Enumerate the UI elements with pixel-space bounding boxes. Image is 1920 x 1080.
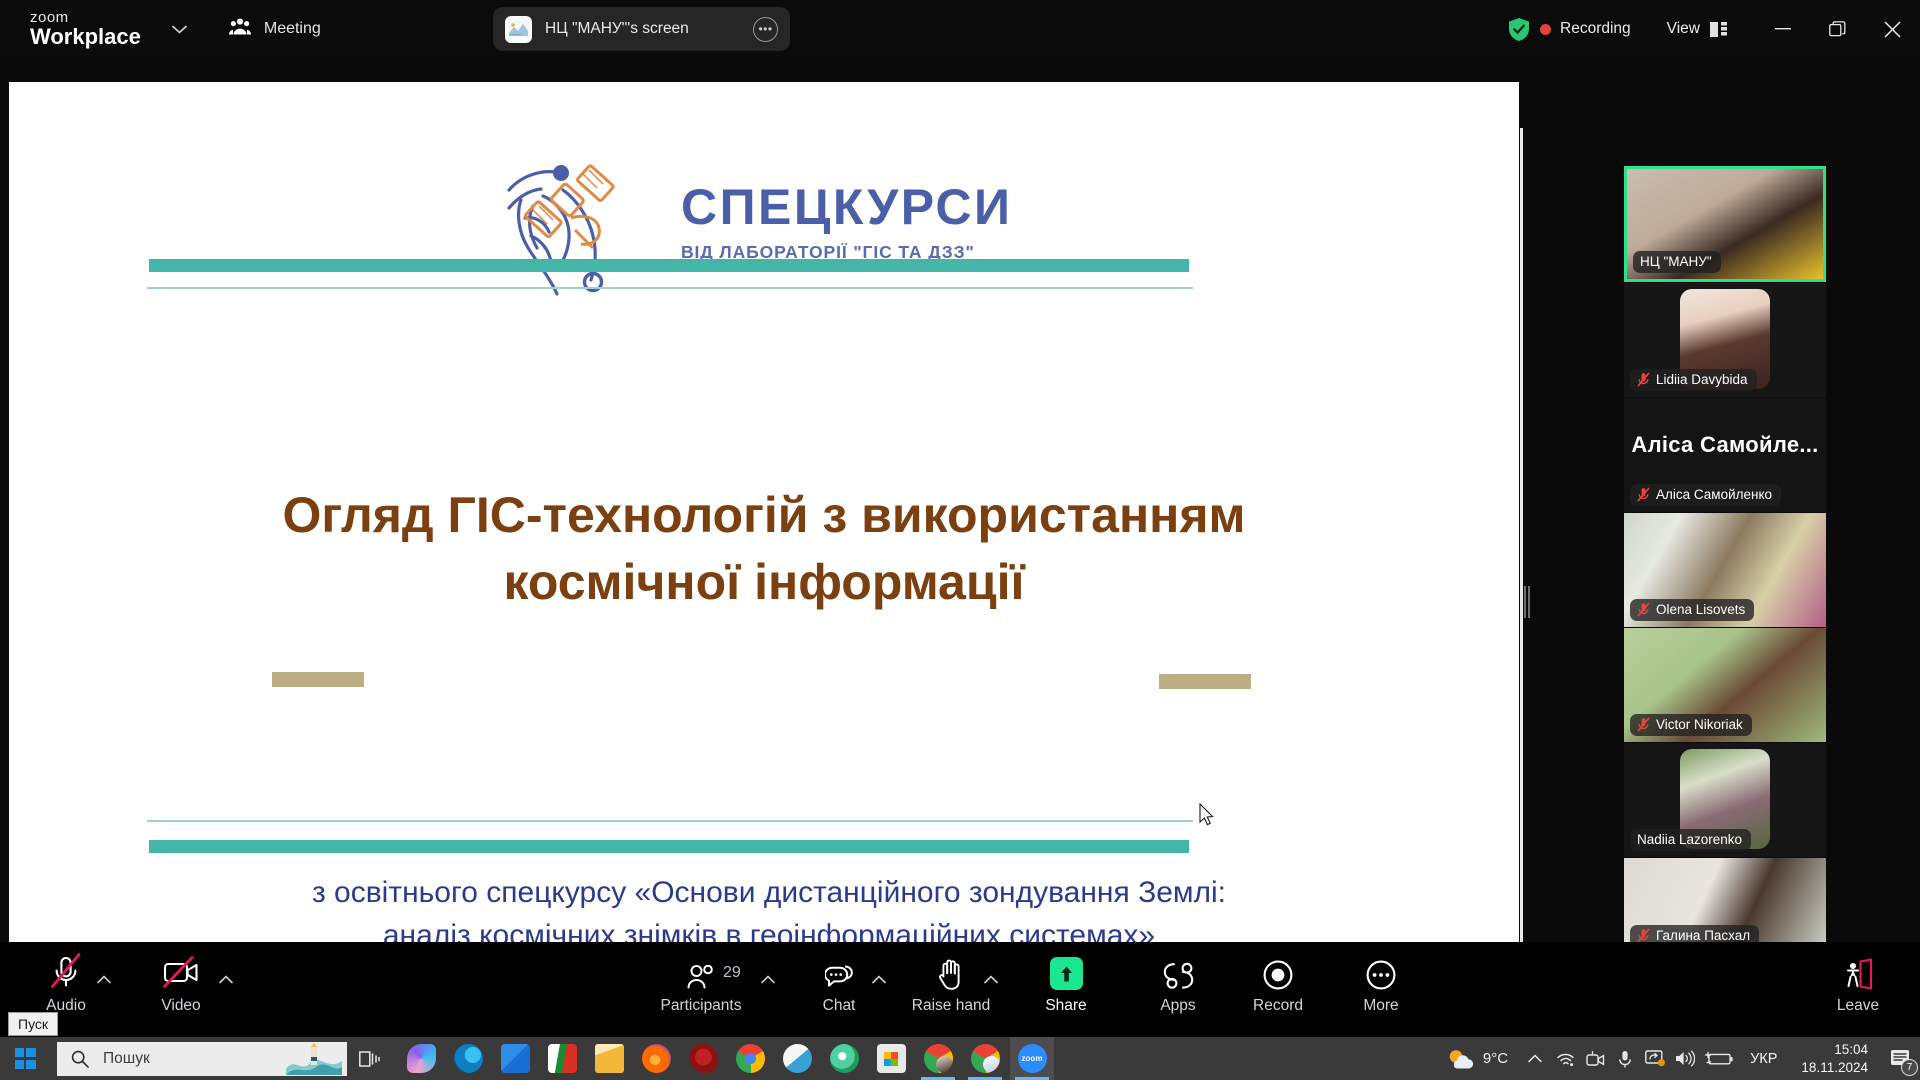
language-indicator[interactable]: УКР [1738,1051,1789,1067]
microphone-muted-icon [1637,602,1650,617]
maximize-restore-button[interactable] [1810,0,1865,58]
weather-widget[interactable]: 9°C [1431,1048,1520,1070]
shared-screen-tab[interactable]: НЦ "МАНУ"'s screen ••• [493,7,790,51]
copilot-icon[interactable] [399,1037,443,1080]
leave-door-icon [1842,948,1874,990]
zoom-logo: zoom Workplace [30,10,141,49]
apps-button[interactable]: Apps [1132,948,1224,1015]
raised-hand-icon [938,948,965,990]
tray-overflow-button[interactable] [1520,1037,1550,1080]
chrome-profile-2-icon[interactable] [963,1037,1007,1080]
chrome-profile-1-icon[interactable] [916,1037,960,1080]
battery-charging-icon[interactable] [1700,1037,1738,1080]
share-screen-button[interactable]: Share [1020,948,1112,1015]
green-shield-check-icon[interactable] [1508,17,1530,41]
windows-taskbar: Пошук [0,1037,1920,1080]
participant-name-pill: Victor Nikoriak [1630,714,1752,736]
participant-display-name: Аліса Самойле... [1624,432,1826,458]
layout-view-icon [1710,22,1727,37]
video-button[interactable]: Video [135,948,227,1015]
presentation-logo-text: СПЕЦКУРСИ ВІД ЛАБОРАТОРІЇ "ГІС ТА ДЗЗ" [681,178,1012,263]
share-panel-resize-handle[interactable] [1524,586,1531,618]
participant-tile[interactable]: Olena Lisovets [1624,513,1826,627]
zoom-brand-line2: Workplace [30,25,141,48]
screen-sharing-icon[interactable] [1640,1037,1670,1080]
microsoft-store-icon[interactable] [869,1037,913,1080]
meeting-tab-label: Meeting [264,20,321,38]
share-panel-divider [1520,128,1523,988]
more-button[interactable]: More [1335,948,1427,1015]
globe-browser-icon[interactable] [822,1037,866,1080]
participant-tile[interactable]: Галина Пасхал [1624,858,1826,953]
participant-name-label: Victor Nikoriak [1656,717,1743,732]
microphone-muted-icon [1637,487,1650,502]
record-dot-icon [1540,24,1551,35]
windows-start-icon [15,1048,36,1069]
camera-muted-icon [161,948,201,990]
participant-tile[interactable]: Nadiia Lazorenko [1624,743,1826,857]
slide-top-teal-bar [149,259,1189,272]
view-button[interactable]: View [1667,20,1727,38]
zoom-meeting-toolbar: Audio Video [0,942,1920,1037]
file-explorer-icon[interactable] [587,1037,631,1080]
participant-tile[interactable]: Аліса Самойле... Аліса Самойленко [1624,398,1826,512]
lighthouse-wave-illustration [286,1043,342,1075]
taskbar-search-input[interactable]: Пошук [57,1042,347,1076]
video-label: Video [161,997,200,1015]
firefox-icon[interactable] [634,1037,678,1080]
task-view-button[interactable] [347,1037,393,1080]
recording-label: Recording [1560,20,1631,38]
shared-screen-more-icon[interactable]: ••• [753,17,778,42]
taskbar-pinned-apps: zoom [399,1037,1054,1080]
pdf-reader-icon[interactable] [540,1037,584,1080]
participant-name-label: Olena Lisovets [1656,602,1745,617]
audio-options-caret[interactable] [93,968,115,990]
zoom-title-bar: zoom Workplace Meeting [0,0,1920,58]
microphone-muted-icon [1637,928,1650,943]
share-label: Share [1045,997,1086,1015]
ellipsis-circle-icon [1366,948,1396,990]
edge-icon[interactable] [446,1037,490,1080]
microphone-muted-icon [1637,717,1650,732]
view-label: View [1667,20,1700,38]
weather-temperature: 9°C [1483,1050,1508,1067]
shared-app-thumbnail-icon [505,16,532,43]
search-placeholder-label: Пошук [103,1050,150,1068]
magnifier-icon [71,1050,89,1068]
participant-name-pill: Аліса Самойленко [1630,484,1781,506]
participant-name-label: Lidiia Davybida [1656,372,1748,387]
participant-name-label: НЦ "МАНУ" [1640,254,1712,269]
microphone-muted-icon [1637,372,1650,387]
recording-indicator[interactable]: Recording [1540,20,1631,38]
zoom-brand-line1: zoom [30,10,141,26]
slide-title-line2: космічної інформації [129,549,1399,616]
zoom-icon[interactable]: zoom [1010,1037,1054,1080]
slide-title: Огляд ГІС-технологій з використанням кос… [129,482,1399,615]
slide-bottom-teal-bar [149,840,1189,853]
participant-video-strip: НЦ "МАНУ" Lidiia Davybida [1624,166,1826,954]
participant-tile[interactable]: Lidiia Davybida [1624,283,1826,397]
leave-label: Leave [1837,997,1879,1015]
chat-label: Chat [823,997,856,1015]
system-tray: 9°C [1431,1037,1920,1080]
participant-name-pill: НЦ "МАНУ" [1633,251,1721,273]
start-button-tooltip: Пуск [8,1012,58,1036]
partly-cloudy-icon [1447,1048,1475,1070]
shared-presentation-slide: СПЕЦКУРСИ ВІД ЛАБОРАТОРІЇ "ГІС ТА ДЗЗ" О… [9,82,1519,957]
titlebar-right-controls: Recording View [1508,0,1920,58]
meeting-tab[interactable]: Meeting [229,18,321,40]
participant-name-pill: Olena Lisovets [1630,599,1754,621]
clock-date: 18.11.2024 [1801,1059,1868,1076]
minimize-button[interactable] [1755,0,1810,58]
camera-in-use-icon[interactable] [1580,1037,1610,1080]
chevron-up-icon [1528,1054,1542,1063]
apps-label: Apps [1160,997,1195,1015]
record-label: Record [1253,997,1303,1015]
slide-title-line1: Огляд ГІС-технологій з використанням [129,482,1399,549]
slide-subtitle-line1: з освітнього спецкурсу «Основи дистанцій… [129,872,1409,915]
chevron-down-icon[interactable] [167,16,193,42]
raise-hand-label: Raise hand [912,997,990,1015]
participants-label: Participants [661,997,742,1015]
notification-count-badge: 7 [1901,1059,1918,1076]
presentation-logo: СПЕЦКУРСИ ВІД ЛАБОРАТОРІЇ "ГІС ТА ДЗЗ" [501,156,1021,301]
satellite-globe-icon [501,156,666,301]
participant-name-label: Nadiia Lazorenko [1637,832,1742,847]
participants-count: 29 [723,964,741,982]
notification-center-button[interactable]: 7 [1880,1037,1920,1080]
participant-tile[interactable]: Victor Nikoriak [1624,628,1826,742]
slide-top-thin-line [147,287,1193,289]
slide-accent-box-left [272,672,364,687]
share-screen-arrow-icon [1050,948,1083,990]
microphone-in-use-icon[interactable] [1610,1037,1640,1080]
close-button[interactable] [1865,0,1920,58]
participant-name-pill: Nadiia Lazorenko [1630,829,1751,851]
apps-icon [1163,948,1194,990]
participant-name-label: Аліса Самойленко [1656,487,1772,502]
clock-widget[interactable]: 15:04 18.11.2024 [1789,1041,1880,1076]
people-group-icon [229,18,251,40]
participants-options-caret[interactable] [757,968,779,990]
microphone-muted-icon [49,948,83,990]
chrome-icon[interactable] [728,1037,772,1080]
mouse-cursor [1199,803,1215,827]
raise-hand-options-caret[interactable] [980,968,1002,990]
participant-tile[interactable]: НЦ "МАНУ" [1624,166,1826,282]
slide-accent-box-right [1159,674,1251,689]
leave-button[interactable]: Leave [1812,948,1904,1015]
speaker-icon[interactable] [1670,1037,1700,1080]
record-circle-icon [1263,948,1293,990]
slide-bottom-thin-line [147,820,1193,822]
video-options-caret[interactable] [215,968,237,990]
outlook-icon[interactable] [493,1037,537,1080]
meeting-stage: СПЕЦКУРСИ ВІД ЛАБОРАТОРІЇ "ГІС ТА ДЗЗ" О… [0,58,1920,938]
task-view-icon [359,1050,381,1068]
record-button[interactable]: Record [1232,948,1324,1015]
logo-main-title: СПЕЦКУРСИ [681,178,1012,236]
snipping-tool-icon[interactable] [775,1037,819,1080]
chat-bubble-icon [825,948,853,990]
zoom-meeting-window: zoom Workplace Meeting [0,0,1920,1080]
start-button[interactable] [0,1037,50,1080]
participant-name-label: Галина Пасхал [1656,928,1750,943]
shared-screen-tab-label: НЦ "МАНУ"'s screen [545,20,740,38]
inkscape-icon[interactable] [681,1037,725,1080]
wifi-icon[interactable] [1550,1037,1580,1080]
participant-name-pill: Lidiia Davybida [1630,369,1757,391]
more-label: More [1363,997,1398,1015]
clock-time: 15:04 [1801,1041,1868,1058]
people-icon [687,948,715,990]
chat-options-caret[interactable] [868,968,890,990]
